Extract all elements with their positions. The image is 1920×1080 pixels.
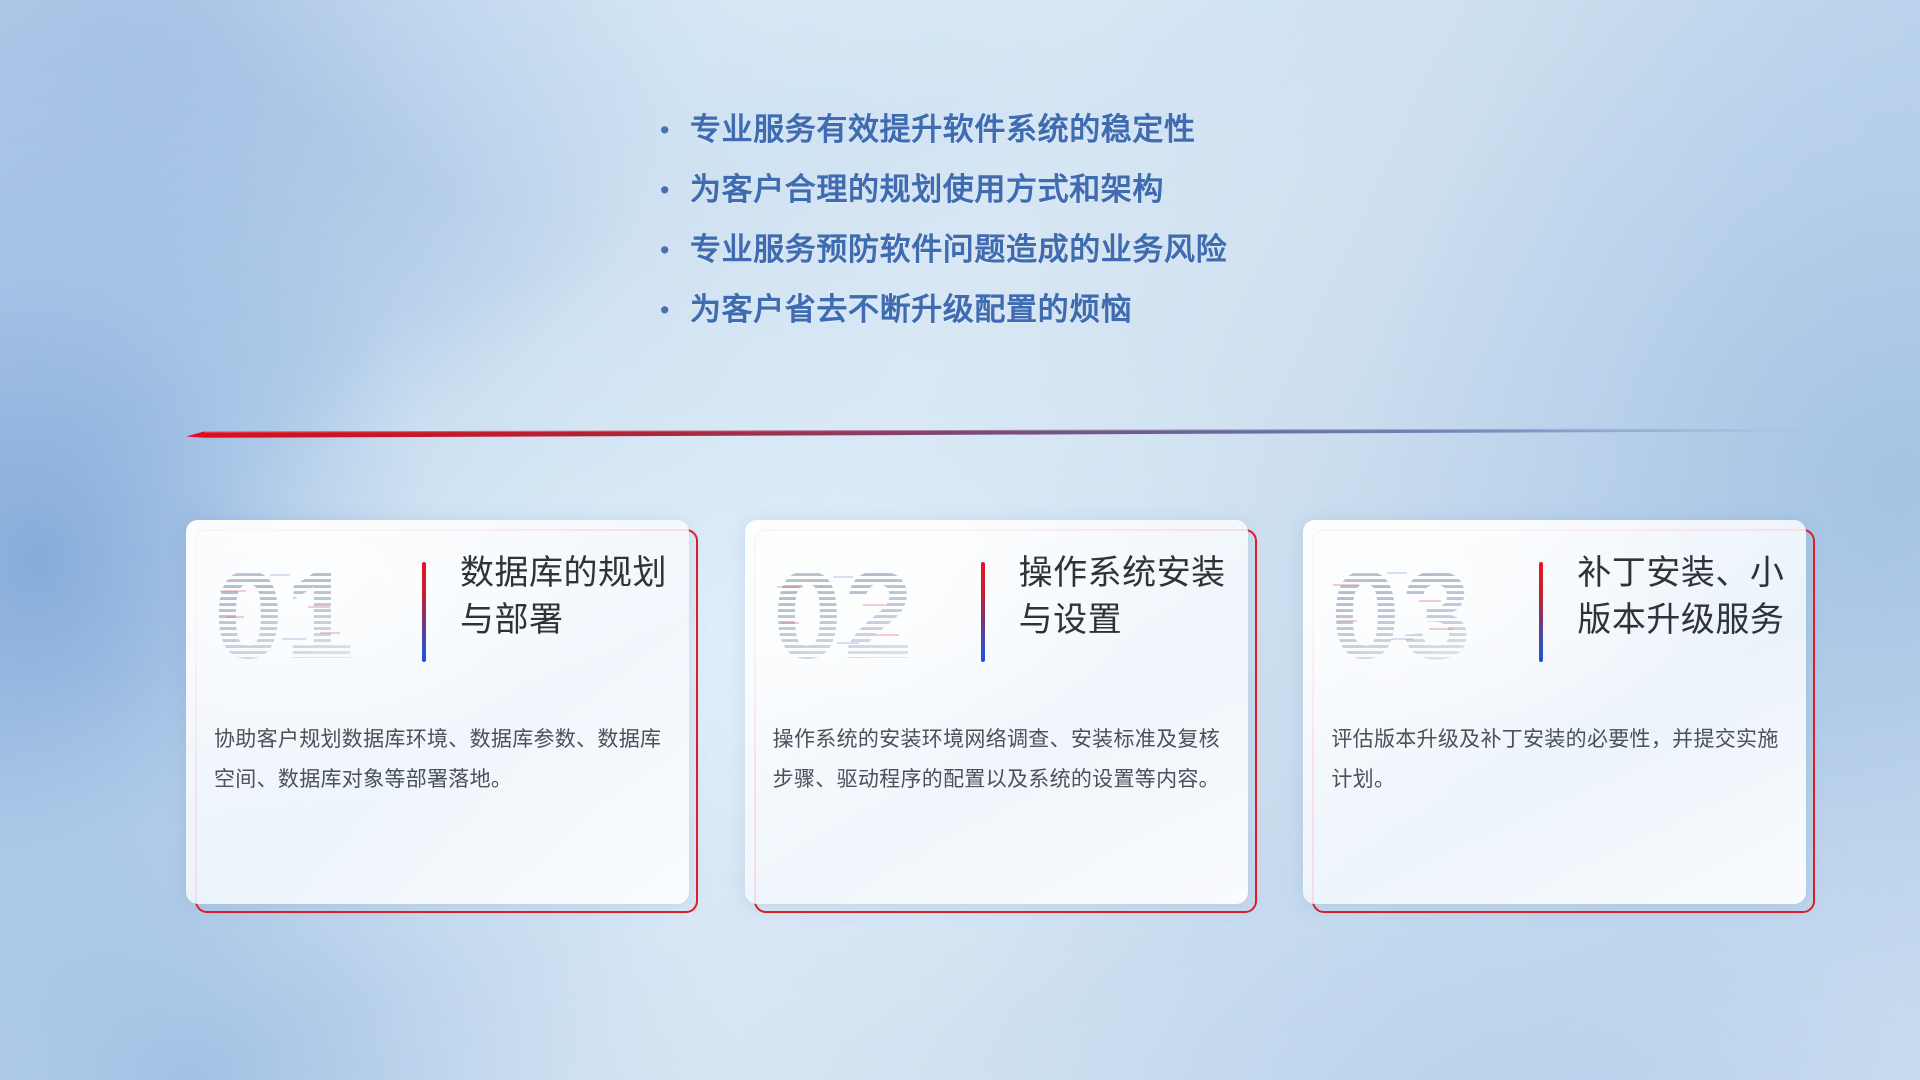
card-title: 操作系统安装 与设置 (1019, 550, 1234, 644)
section-divider (186, 424, 1836, 440)
card-accent-rule (422, 562, 426, 662)
card-title: 补丁安装、小 版本升级服务 (1577, 550, 1792, 644)
bullet-item-label: 为客户合理的规划使用方式和架构 (690, 172, 1164, 208)
bullet-item: • 专业服务预防软件问题造成的业务风险 (660, 232, 1480, 268)
svg-text:01: 01 (214, 547, 356, 676)
bullet-dot-icon: • (660, 172, 690, 208)
card-title-line-2: 与部署 (460, 597, 675, 644)
bullet-dot-icon: • (660, 232, 690, 268)
svg-text:02: 02 (773, 547, 915, 676)
card-description: 评估版本升级及补丁安装的必要性，并提交实施计划。 (1331, 720, 1780, 800)
card-description: 操作系统的安装环境网络调查、安装标准及复核步骤、驱动程序的配置以及系统的设置等内… (773, 720, 1222, 800)
bullet-item-label: 专业服务有效提升软件系统的稳定性 (690, 112, 1196, 148)
service-card[interactable]: 03 补丁安装、小 版本升级服务 评估版本升级及补丁安 (1303, 520, 1806, 904)
card-number-02-icon: 02 (771, 546, 961, 676)
card-description: 协助客户规划数据库环境、数据库参数、数据库空间、数据库对象等部署落地。 (214, 720, 663, 800)
card-surface: 02 操作系统安装 与设置 操作系统的安装环境网络调查 (745, 520, 1248, 904)
card-surface: 03 补丁安装、小 版本升级服务 评估版本升级及补丁安 (1303, 520, 1806, 904)
bullet-item: • 为客户省去不断升级配置的烦恼 (660, 292, 1480, 328)
card-title-line-1: 补丁安装、小 (1577, 550, 1792, 597)
bullet-item-label: 专业服务预防软件问题造成的业务风险 (690, 232, 1227, 268)
bullet-item: • 为客户合理的规划使用方式和架构 (660, 172, 1480, 208)
card-title-line-2: 版本升级服务 (1577, 597, 1792, 644)
bullet-dot-icon: • (660, 112, 690, 148)
svg-text:03: 03 (1331, 547, 1473, 676)
service-card[interactable]: 02 操作系统安装 与设置 操作系统的安装环境网络调查 (745, 520, 1248, 904)
service-card[interactable]: 01 数据库的规划 与部署 协助客户规划数据库环境、数 (186, 520, 689, 904)
card-title-line-1: 数据库的规划 (460, 550, 675, 597)
card-accent-rule (1539, 562, 1543, 662)
card-accent-rule (981, 562, 985, 662)
card-title-line-2: 与设置 (1019, 597, 1234, 644)
bullet-dot-icon: • (660, 292, 690, 328)
card-surface: 01 数据库的规划 与部署 协助客户规划数据库环境、数 (186, 520, 689, 904)
card-number-01-icon: 01 (212, 546, 402, 676)
service-card-deck: 01 数据库的规划 与部署 协助客户规划数据库环境、数 (186, 520, 1806, 920)
bullet-item-label: 为客户省去不断升级配置的烦恼 (690, 292, 1132, 328)
card-title-line-1: 操作系统安装 (1019, 550, 1234, 597)
card-title: 数据库的规划 与部署 (460, 550, 675, 644)
benefits-bullet-list: • 专业服务有效提升软件系统的稳定性 • 为客户合理的规划使用方式和架构 • 专… (660, 112, 1480, 352)
card-number-03-icon: 03 (1329, 546, 1519, 676)
bullet-item: • 专业服务有效提升软件系统的稳定性 (660, 112, 1480, 148)
